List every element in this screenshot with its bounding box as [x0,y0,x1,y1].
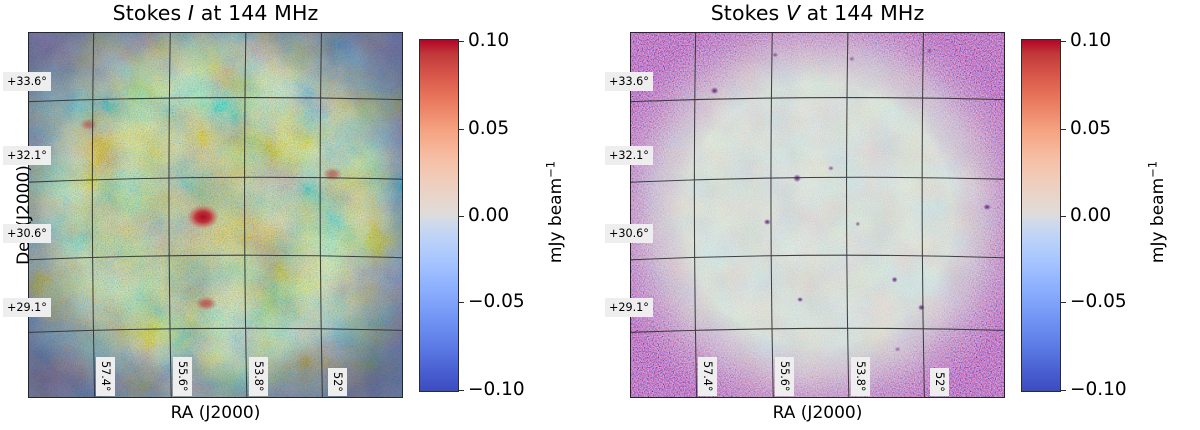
ra-label-0: 57.4° [698,357,717,396]
panel-title-prefix: Stokes [711,1,786,25]
cbar-ticklabel-2: 0.00 [1070,205,1111,227]
panel-stokes-v: Stokes V at 144 MHz [602,0,1200,430]
ra-label-2: 53.8° [851,357,870,396]
cbar-ticklabel-1: 0.05 [1070,118,1111,140]
x-axis-label-stokes-v: RA (J2000) [630,402,1005,424]
cbar-ticklabel-4: −0.10 [468,379,525,401]
panel-stokes-i: Stokes I at 144 MHz [0,0,600,430]
dec-label-0: +33.6° [3,72,51,91]
colorbar-stokes-i: 0.10 0.05 0.00 −0.05 −0.10 mJy beam−1 [419,39,459,392]
panel-title-suffix: at 144 MHz [800,1,924,25]
y-axis-label-stokes-i: Dec (J2000) [13,145,35,285]
cbar-tick-1 [459,129,464,130]
sky-image-stokes-v-raster [631,33,1004,397]
cbar-tick-3 [1061,302,1066,303]
colorbar-axis-label-stokes-i: mJy beam−1 [546,137,566,287]
ra-label-2: 53.8° [249,357,268,396]
panel-title-stokes-i: Stokes I at 144 MHz [28,0,403,26]
ra-label-1: 55.6° [775,357,794,396]
colorbar-ticks-stokes-i: 0.10 0.05 0.00 −0.05 −0.10 [419,39,459,392]
panel-title-suffix: at 144 MHz [194,1,318,25]
cbar-tick-4 [459,390,464,391]
colorbar-axis-label-text: mJy beam [546,178,566,263]
colorbar-axis-label-exponent: −1 [543,161,557,178]
cbar-tick-0 [1061,41,1066,42]
colorbar-axis-label-exponent: −1 [1145,161,1159,178]
panel-title-prefix: Stokes [113,1,188,25]
cbar-tick-2 [459,216,464,217]
cbar-ticklabel-0: 0.10 [1070,30,1111,52]
colorbar-axis-label-text: mJy beam [1148,178,1168,263]
cbar-ticklabel-3: −0.05 [1070,291,1127,313]
cbar-tick-1 [1061,129,1066,130]
colorbar-stokes-v: 0.10 0.05 0.00 −0.05 −0.10 mJy beam−1 [1021,39,1061,392]
ra-label-3: 52° [328,368,347,396]
dec-label-0: +33.6° [605,72,653,91]
figure-canvas: Stokes I at 144 MHz [0,0,1200,430]
colorbar-axis-label-stokes-v: mJy beam−1 [1148,137,1168,287]
dec-label-1: +32.1° [3,146,51,165]
ra-label-0: 57.4° [96,357,115,396]
cbar-ticklabel-1: 0.05 [468,118,509,140]
sky-image-stokes-i[interactable] [28,32,403,398]
dec-label-1: +32.1° [605,146,653,165]
cbar-tick-0 [459,41,464,42]
sky-image-stokes-i-raster [29,33,402,397]
colorbar-ticks-stokes-v: 0.10 0.05 0.00 −0.05 −0.10 [1021,39,1061,392]
ra-label-3: 52° [930,368,949,396]
cbar-tick-2 [1061,216,1066,217]
dec-label-3: +29.1° [3,298,51,317]
panel-title-stokes-v: Stokes V at 144 MHz [630,0,1005,26]
cbar-tick-4 [1061,390,1066,391]
cbar-ticklabel-3: −0.05 [468,291,525,313]
sky-image-stokes-v[interactable] [630,32,1005,398]
cbar-ticklabel-4: −0.10 [1070,379,1127,401]
cbar-ticklabel-0: 0.10 [468,30,509,52]
x-axis-label-stokes-i: RA (J2000) [28,402,403,424]
cbar-ticklabel-2: 0.00 [468,205,509,227]
dec-label-2: +30.6° [3,224,51,243]
cbar-tick-3 [459,302,464,303]
panel-title-symbol: V [786,1,800,25]
ra-label-1: 55.6° [173,357,192,396]
dec-label-2: +30.6° [605,224,653,243]
dec-label-3: +29.1° [605,298,653,317]
